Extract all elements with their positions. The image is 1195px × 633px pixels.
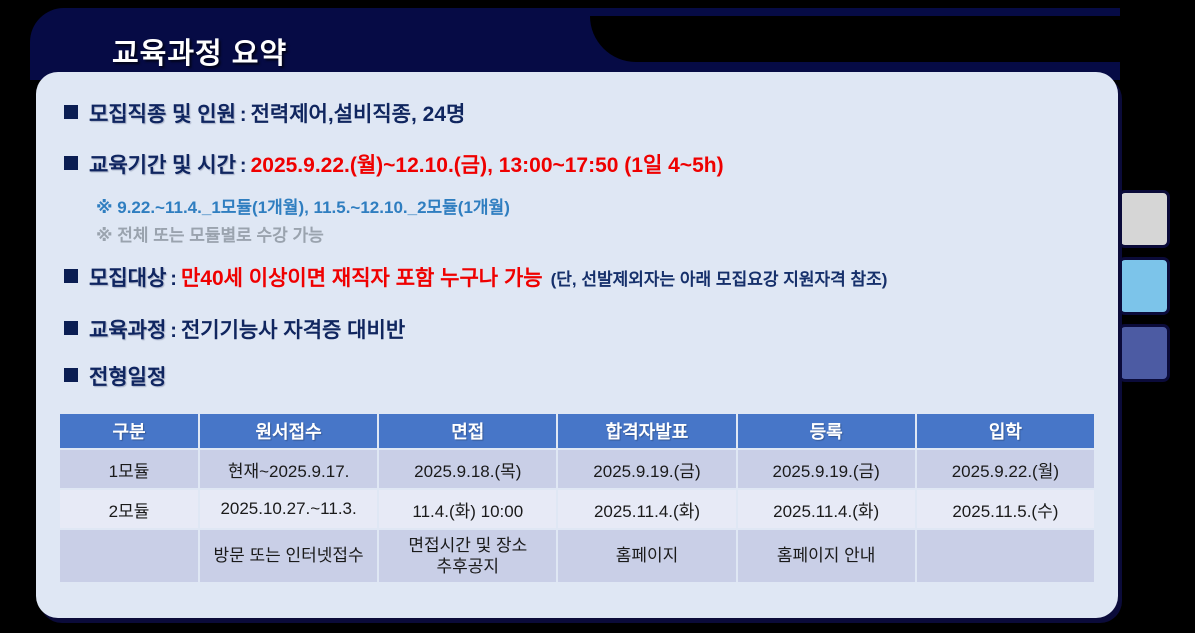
row-period: 교육기간 및 시간:2025.9.22.(월)~12.10.(금), 13:00… [64, 155, 724, 176]
row-schedule-heading: 전형일정 [64, 367, 166, 388]
table-cell-r0-c0: 1모듈 [60, 450, 198, 488]
row-recruit-job: 모집직종 및 인원:전력제어,설비직종, 24명 [64, 104, 465, 125]
side-tab-slateblue[interactable] [1118, 324, 1170, 382]
table-row: 방문 또는 인터넷접수면접시간 및 장소추후공지홈페이지홈페이지 안내 [60, 530, 1094, 582]
recruit-job-value: 전력제어,설비직종, 24명 [251, 103, 466, 126]
period-separator: : [236, 155, 251, 177]
table-row: 2모듈2025.10.27.~11.3.11.4.(화) 10:002025.1… [60, 490, 1094, 528]
recruit-job-label: 모집직종 및 인원 [89, 103, 236, 126]
table-cell-r1-c2: 11.4.(화) 10:00 [379, 490, 556, 528]
table-cell-r2-c4: 홈페이지 안내 [738, 530, 915, 582]
period-note-enroll: ※ 전체 또는 모듈별로 수강 가능 [96, 227, 324, 244]
table-cell-r1-c5: 2025.11.5.(수) [917, 490, 1094, 528]
course-separator: : [166, 320, 181, 342]
schedule-label: 전형일정 [89, 366, 166, 389]
row-target: 모집대상:만40세 이상이면 재직자 포함 누구나 가능(단, 선발제외자는 아… [64, 268, 887, 289]
schedule-table-wrap: 구분원서접수면접합격자발표등록입학 1모듈현재~2025.9.17.2025.9… [58, 412, 1096, 584]
banner-notch-flat [706, 16, 1156, 62]
target-label: 모집대상 [89, 267, 166, 290]
table-cell-r2-c5 [917, 530, 1094, 582]
square-bullet-icon [64, 368, 78, 382]
square-bullet-icon [64, 269, 78, 283]
table-cell-r1-c0: 2모듈 [60, 490, 198, 528]
slide-canvas: 교육과정 요약 모집직종 및 인원:전력제어,설비직종, 24명 교육기간 및 … [0, 0, 1195, 633]
table-cell-r0-c3: 2025.9.19.(금) [558, 450, 735, 488]
period-note-module: ※ 9.22.~11.4._1모듈(1개월), 11.5.~12.10._2모듈… [96, 199, 510, 216]
side-tab-group [1118, 190, 1178, 400]
schedule-table-body: 1모듈현재~2025.9.17.2025.9.18.(목)2025.9.19.(… [60, 450, 1094, 582]
table-row: 1모듈현재~2025.9.17.2025.9.18.(목)2025.9.19.(… [60, 450, 1094, 488]
page-title: 교육과정 요약 [112, 30, 287, 72]
table-cell-r0-c4: 2025.9.19.(금) [738, 450, 915, 488]
table-cell-r2-c1: 방문 또는 인터넷접수 [200, 530, 377, 582]
table-col-header-3: 합격자발표 [558, 414, 735, 448]
table-cell-r0-c2: 2025.9.18.(목) [379, 450, 556, 488]
schedule-table-head: 구분원서접수면접합격자발표등록입학 [60, 414, 1094, 448]
table-cell-r0-c1: 현재~2025.9.17. [200, 450, 377, 488]
table-header-row: 구분원서접수면접합격자발표등록입학 [60, 414, 1094, 448]
content-panel: 모집직종 및 인원:전력제어,설비직종, 24명 교육기간 및 시간:2025.… [36, 72, 1118, 618]
schedule-table: 구분원서접수면접합격자발표등록입학 1모듈현재~2025.9.17.2025.9… [58, 412, 1096, 584]
header-banner: 교육과정 요약 [30, 8, 1120, 80]
square-bullet-icon [64, 321, 78, 335]
target-separator: : [166, 268, 181, 290]
period-label: 교육기간 및 시간 [89, 154, 236, 177]
table-col-header-1: 원서접수 [200, 414, 377, 448]
table-col-header-0: 구분 [60, 414, 198, 448]
table-cell-r0-c5: 2025.9.22.(월) [917, 450, 1094, 488]
recruit-job-separator: : [236, 104, 251, 126]
table-cell-r1-c3: 2025.11.4.(화) [558, 490, 735, 528]
square-bullet-icon [64, 156, 78, 170]
square-bullet-icon [64, 105, 78, 119]
table-col-header-2: 면접 [379, 414, 556, 448]
table-cell-r1-c1: 2025.10.27.~11.3. [200, 490, 377, 528]
course-label: 교육과정 [89, 319, 166, 342]
row-course: 교육과정:전기기능사 자격증 대비반 [64, 320, 405, 341]
target-inline-note: (단, 선발제외자는 아래 모집요강 지원자격 참조) [551, 270, 888, 289]
table-col-header-5: 입학 [917, 414, 1094, 448]
table-cell-r2-c0 [60, 530, 198, 582]
side-tab-gray[interactable] [1118, 190, 1170, 248]
table-cell-r2-c2: 면접시간 및 장소추후공지 [379, 530, 556, 582]
target-value: 만40세 이상이면 재직자 포함 누구나 가능 [181, 267, 543, 290]
table-cell-r1-c4: 2025.11.4.(화) [738, 490, 915, 528]
table-cell-r2-c3: 홈페이지 [558, 530, 735, 582]
table-col-header-4: 등록 [738, 414, 915, 448]
side-tab-skyblue[interactable] [1118, 257, 1170, 315]
period-value: 2025.9.22.(월)~12.10.(금), 13:00~17:50 (1일… [251, 154, 724, 177]
banner-notch-curve [590, 16, 710, 62]
course-value: 전기기능사 자격증 대비반 [181, 319, 405, 342]
